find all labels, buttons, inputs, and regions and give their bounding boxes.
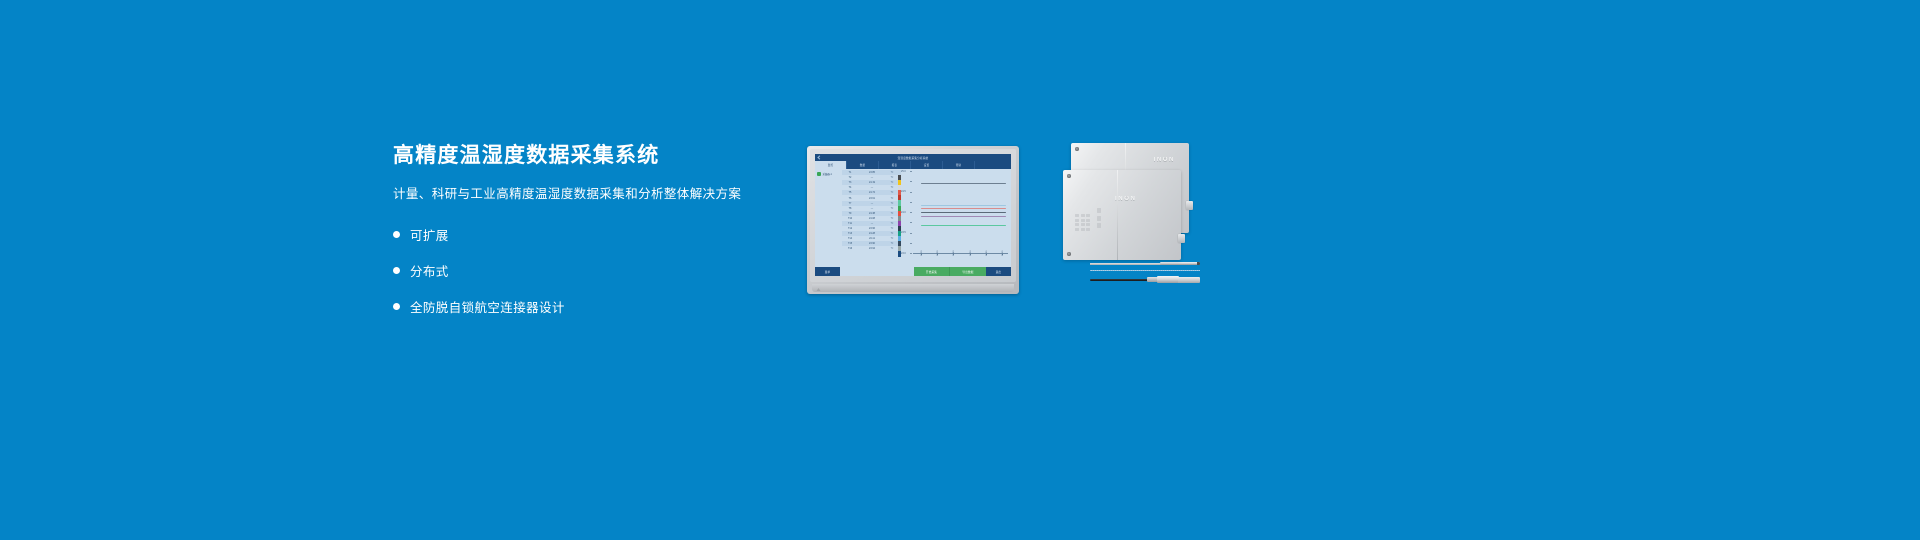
channel-value: ---: [858, 207, 886, 210]
device-tree-node[interactable]: 采集器-1: [817, 172, 832, 176]
cable-jacket: [1090, 279, 1150, 282]
bullet-dot-icon: [393, 267, 400, 274]
channel-unit: ℃: [886, 247, 898, 250]
channel-label: T12: [842, 227, 858, 230]
enclosure-screw-icon: [1075, 147, 1079, 151]
back-chevron-icon[interactable]: [817, 155, 821, 159]
feature-item-connector: 全防脱自锁航空连接器设计: [393, 294, 793, 319]
brand-label: INON: [1115, 196, 1136, 202]
device-online-icon: [817, 172, 821, 176]
channel-label: T6: [842, 197, 858, 200]
page-title: 高精度温湿度数据采集系统: [393, 143, 793, 168]
probe-tip: [1197, 262, 1200, 265]
channel-label: T5: [842, 191, 858, 194]
chart-trace-T9: [921, 216, 1007, 217]
connector-shell: [1157, 276, 1179, 283]
exit-button[interactable]: 退出: [986, 267, 1011, 276]
tab-monitor[interactable]: 监控: [815, 161, 847, 169]
channel-unit: ℃: [886, 227, 898, 230]
channel-unit: ℃: [886, 171, 898, 174]
x-tick-label: 10:50: [970, 251, 972, 256]
x-tick-label: 10:30: [937, 251, 939, 256]
tab-data[interactable]: 数据: [847, 161, 879, 169]
port-cell: [1081, 228, 1085, 231]
tab-help[interactable]: 帮助: [943, 161, 975, 169]
vendor-logo-icon: [816, 287, 821, 292]
channel-unit: ℃: [886, 222, 898, 225]
screen-action-bar: 菜单 开始采集 导出数据 退出: [815, 267, 1011, 276]
y-tick-label: 24.0: [901, 211, 906, 214]
enclosure-connector: [1178, 234, 1185, 243]
channel-value: 24.19: [858, 181, 886, 184]
channel-value: 24.11: [858, 237, 886, 240]
y-tick-mark: [910, 233, 912, 234]
port-cell: [1086, 228, 1090, 231]
trend-chart-pane: 25.024.524.023.523.0 10:2010:3010:4010:5…: [901, 169, 1011, 267]
channel-unit: ℃: [886, 197, 898, 200]
y-tick-label: 23.0: [901, 252, 906, 255]
channel-label: T3: [842, 181, 858, 184]
port-cell: [1086, 219, 1090, 222]
menu-button[interactable]: 菜单: [815, 267, 840, 276]
channel-value: 23.90: [858, 242, 886, 245]
chart-trace-T12: [921, 225, 1007, 226]
channel-value: 24.28: [858, 232, 886, 235]
channel-unit: ℃: [886, 202, 898, 205]
probe-cable-strand: [1090, 270, 1200, 271]
panel-pc-device: 温湿度数据采集分析系统 监控 数据 报表 设置 帮助 采集器-1 T123.85…: [807, 146, 1019, 294]
y-tick-label: 24.5: [901, 190, 906, 193]
channel-value: 23.96: [858, 227, 886, 230]
terminal-cell: [1097, 216, 1101, 221]
enclosure-connector: [1186, 201, 1193, 210]
banner-text-block: 高精度温湿度数据采集系统 计量、科研与工业高精度温湿度数据采集和分析整体解决方案…: [393, 143, 793, 330]
feature-label: 全防脱自锁航空连接器设计: [410, 297, 565, 316]
chart-x-axis: 10:2010:3010:4010:5011:0011:10: [913, 253, 1008, 254]
feature-label: 可扩展: [410, 225, 449, 244]
enclosure-screw-icon: [1067, 174, 1071, 178]
screen-titlebar: 温湿度数据采集分析系统: [815, 154, 1011, 161]
screen-tabbar: 监控 数据 报表 设置 帮助: [815, 161, 1011, 169]
y-tick-mark: [910, 181, 912, 182]
screen-body: 采集器-1 T123.85℃T2---℃T324.19℃T4---℃T524.7…: [815, 169, 1011, 267]
sensor-list-pane: 采集器-1 T123.85℃T2---℃T324.19℃T4---℃T524.7…: [815, 169, 901, 267]
terminal-cell: [1097, 223, 1101, 228]
bullet-dot-icon: [393, 303, 400, 310]
chart-trace-T1: [921, 183, 1007, 184]
port-cell: [1075, 223, 1079, 226]
probe-body: [1160, 262, 1200, 265]
chart-trace-T5: [921, 208, 1007, 209]
x-tick-label: 10:20: [921, 251, 923, 256]
channel-value: 23.85: [858, 171, 886, 174]
tab-report[interactable]: 报表: [879, 161, 911, 169]
channel-label: T11: [842, 222, 858, 225]
tab-settings[interactable]: 设置: [911, 161, 943, 169]
enclosure-screw-icon: [1067, 252, 1071, 256]
channel-label: T8: [842, 207, 858, 210]
table-row[interactable]: T1623.94℃: [842, 246, 901, 251]
screen-title: 温湿度数据采集分析系统: [898, 156, 929, 160]
channel-label: T15: [842, 242, 858, 245]
channel-label: T4: [842, 186, 858, 189]
feature-label: 分布式: [410, 261, 449, 280]
x-tick-label: 11:00: [986, 251, 988, 256]
channel-label: T14: [842, 237, 858, 240]
device-node-label: 采集器-1: [823, 172, 832, 176]
feature-item-distributed: 分布式: [393, 258, 793, 283]
port-cell: [1086, 223, 1090, 226]
channel-label: T13: [842, 232, 858, 235]
channel-value: ---: [858, 222, 886, 225]
chart-y-axis: 25.024.524.023.523.0: [901, 171, 913, 253]
brand-label: INON: [1154, 157, 1175, 163]
probe-shaft: [1090, 263, 1162, 265]
feature-list: 可扩展 分布式 全防脱自锁航空连接器设计: [393, 222, 793, 319]
channel-unit: ℃: [886, 181, 898, 184]
temperature-probe: [1090, 261, 1200, 267]
channel-unit: ℃: [886, 176, 898, 179]
export-data-button[interactable]: 导出数据: [950, 267, 986, 276]
port-cell: [1081, 223, 1085, 226]
channel-value: 23.61: [858, 197, 886, 200]
connector-lock-nut: [1178, 277, 1200, 283]
sensor-table: T123.85℃T2---℃T324.19℃T4---℃T524.72℃T623…: [842, 170, 901, 252]
y-tick-mark: [910, 202, 912, 203]
chart-trace-T3: [921, 205, 1007, 206]
port-cell: [1081, 219, 1085, 222]
port-cell: [1075, 214, 1079, 217]
terminal-column: [1097, 208, 1101, 228]
channel-value: 24.08: [858, 217, 886, 220]
channel-unit: ℃: [886, 232, 898, 235]
channel-unit: ℃: [886, 212, 898, 215]
channel-value: 23.94: [858, 247, 886, 250]
channel-value: ---: [858, 176, 886, 179]
port-cell: [1086, 214, 1090, 217]
screen-content: 温湿度数据采集分析系统 监控 数据 报表 设置 帮助 采集器-1 T123.85…: [815, 154, 1011, 276]
y-tick-mark: [910, 171, 912, 172]
start-capture-button[interactable]: 开始采集: [914, 267, 950, 276]
channel-label: T1: [842, 171, 858, 174]
aviation-connector-cable: [1090, 275, 1200, 285]
channel-value: ---: [858, 186, 886, 189]
x-tick-label: 10:40: [953, 251, 955, 256]
channel-label: T9: [842, 212, 858, 215]
x-tick-label: 11:10: [1002, 251, 1004, 256]
channel-unit: ℃: [886, 186, 898, 189]
y-tick-mark: [910, 192, 912, 193]
monitor-base-lip: [812, 284, 1014, 292]
y-tick-mark: [910, 253, 912, 254]
action-bar-spacer: [840, 267, 914, 276]
channel-value: 24.72: [858, 191, 886, 194]
port-cell: [1075, 219, 1079, 222]
channel-value: 24.38: [858, 212, 886, 215]
page-subtitle: 计量、科研与工业高精度温湿度数据采集和分析整体解决方案: [393, 186, 793, 202]
feature-item-scalable: 可扩展: [393, 222, 793, 247]
channel-unit: ℃: [886, 237, 898, 240]
channel-unit: ℃: [886, 242, 898, 245]
port-cell: [1081, 214, 1085, 217]
port-grid: [1075, 214, 1090, 231]
channel-label: T16: [842, 247, 858, 250]
channel-value: ---: [858, 202, 886, 205]
chart-trace-T6: [921, 212, 1007, 213]
y-tick-mark: [910, 212, 912, 213]
terminal-cell: [1097, 208, 1101, 213]
channel-label: T7: [842, 202, 858, 205]
channel-unit: ℃: [886, 207, 898, 210]
bullet-dot-icon: [393, 231, 400, 238]
y-tick-label: 25.0: [901, 170, 906, 173]
port-cell: [1075, 228, 1079, 231]
front-enclosure: INON: [1063, 170, 1181, 260]
y-tick-mark: [910, 243, 912, 244]
y-tick-mark: [910, 222, 912, 223]
channel-unit: ℃: [886, 191, 898, 194]
channel-label: T2: [842, 176, 858, 179]
chart-plot-area: [913, 171, 1008, 253]
enclosure-seam: [1117, 170, 1118, 260]
channel-unit: ℃: [886, 217, 898, 220]
channel-label: T10: [842, 217, 858, 220]
y-tick-label: 23.5: [901, 231, 906, 234]
